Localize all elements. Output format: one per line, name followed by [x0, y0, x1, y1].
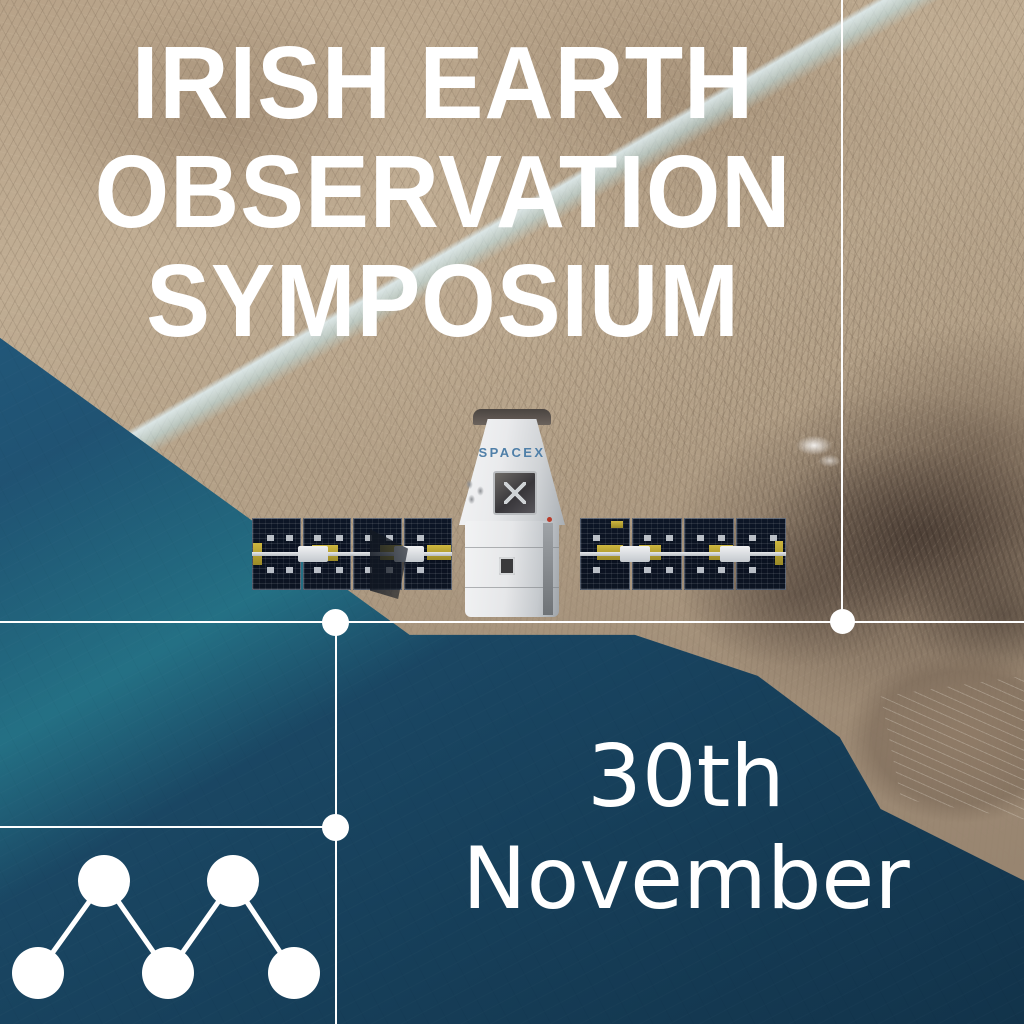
trunk-side-rail: [543, 523, 553, 615]
solar-array-right: [580, 518, 786, 590]
grid-dot-lower-left: [322, 814, 349, 841]
array-hinge-hub: [720, 546, 750, 562]
grid-dot-upper-left: [322, 609, 349, 636]
berthing-mechanism-hatch: [493, 471, 537, 515]
solar-array-spar: [580, 552, 786, 556]
trunk-indicator-light: [547, 517, 552, 522]
solar-array-left: [252, 518, 452, 590]
chart-node: [207, 855, 259, 907]
chart-data-points: [12, 855, 320, 999]
chart-node: [78, 855, 130, 907]
dragon-capsule: SPACEX: [449, 405, 575, 620]
date-month: November: [362, 828, 1010, 930]
spacex-dragon-spacecraft: SPACEX: [252, 405, 786, 620]
hatch-cross-detail: [504, 482, 526, 504]
decorative-line-chart: [0, 846, 336, 1024]
title-line-2: OBSERVATION: [31, 137, 855, 246]
grid-horizontal-line-lower: [0, 826, 337, 828]
trunk-equipment-badge: [499, 557, 515, 575]
array-hinge-hub: [298, 546, 328, 562]
chart-node: [142, 947, 194, 999]
chart-node: [268, 947, 320, 999]
chart-node: [12, 947, 64, 999]
grid-dot-upper-right: [830, 609, 855, 634]
date-day: 30th: [362, 726, 1010, 828]
event-date: 30th November: [362, 726, 1010, 930]
title-line-1: IRISH EARTH: [31, 28, 855, 137]
poster-canvas: SPACEX IRISH EARTH OBSERVATION SYMPOSIUM…: [0, 0, 1024, 1024]
grid-horizontal-line-upper: [0, 621, 1024, 623]
event-title: IRISH EARTH OBSERVATION SYMPOSIUM: [31, 28, 855, 355]
spacex-wordmark: SPACEX: [473, 445, 551, 460]
array-hinge-hub: [620, 546, 650, 562]
draco-thruster-ports: [465, 479, 487, 509]
title-line-3: SYMPOSIUM: [31, 246, 855, 355]
